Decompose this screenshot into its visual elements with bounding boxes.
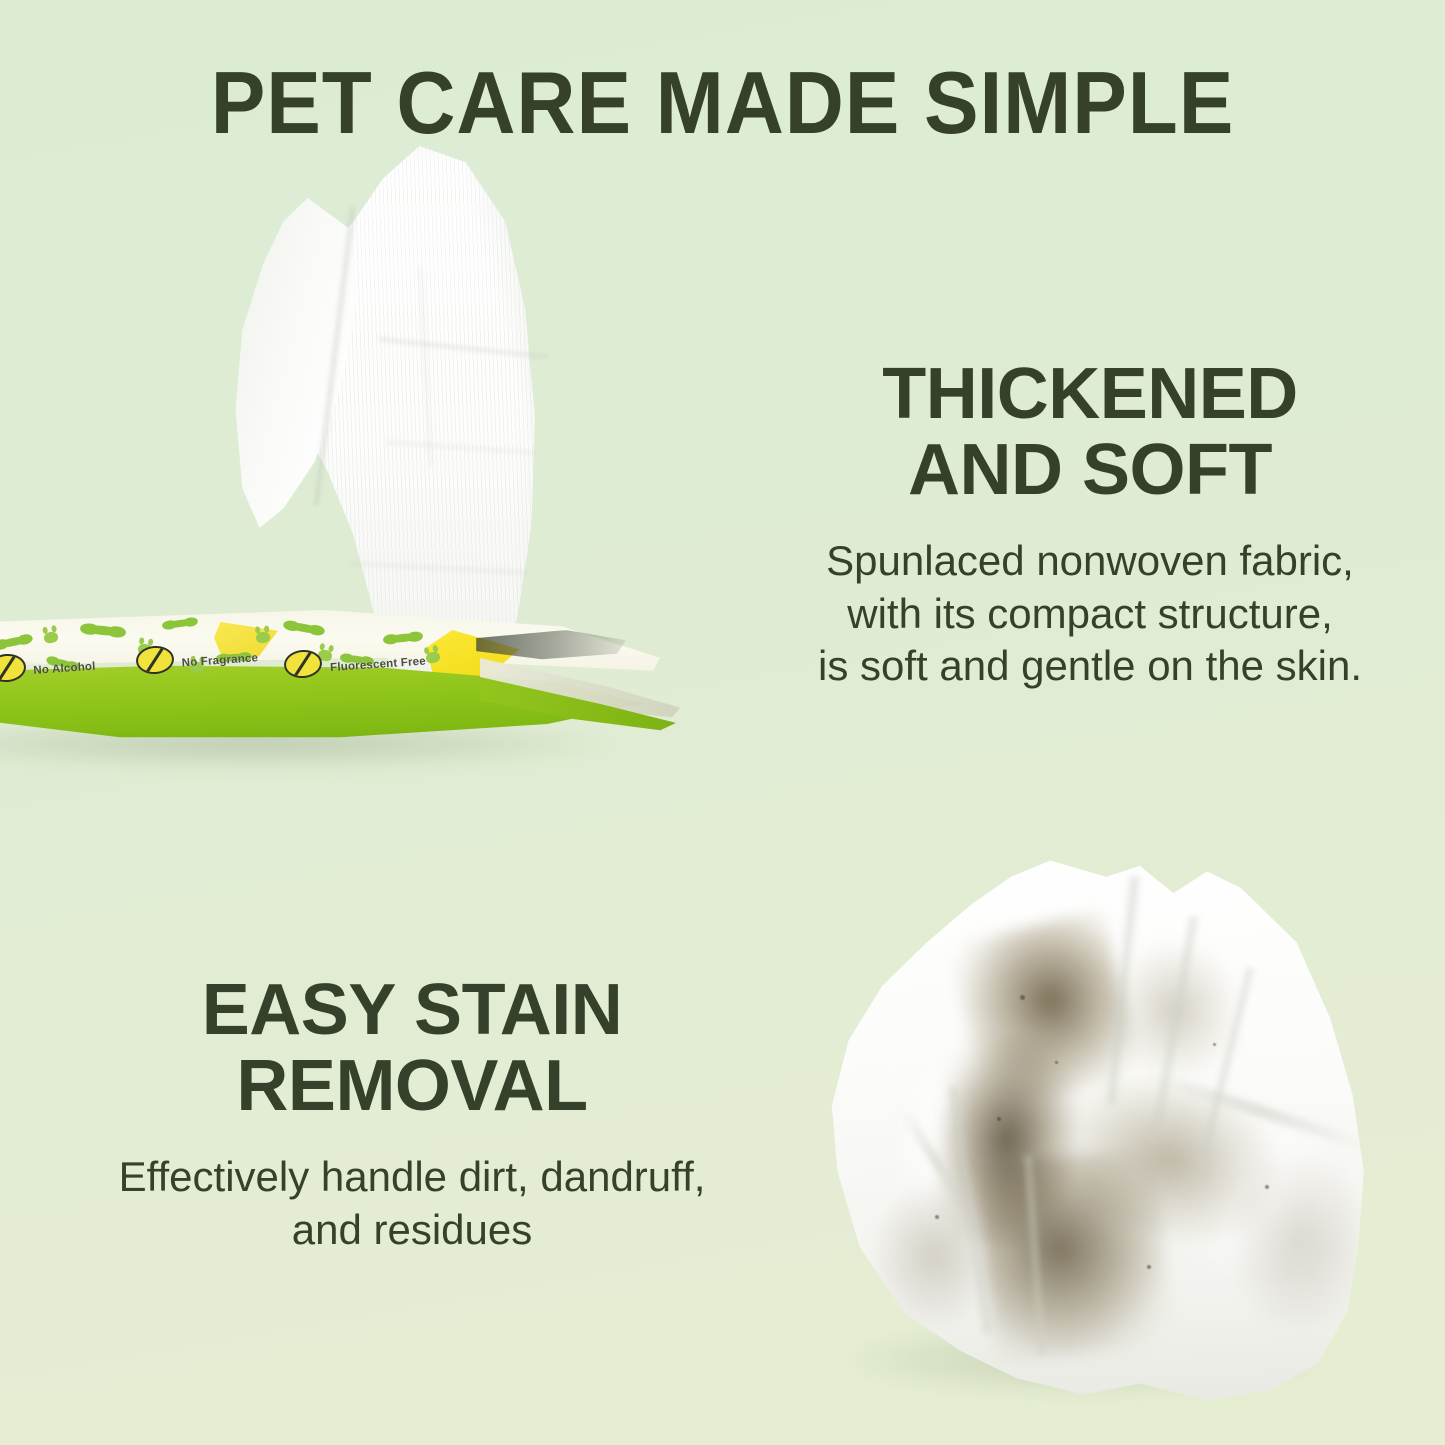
feature-thickened-and-soft: THICKENED AND SOFT Spunlaced nonwoven fa… (760, 356, 1420, 693)
dirt-speck (1020, 995, 1025, 1000)
dirt-speck (1147, 1265, 1151, 1269)
wipe-pulled-out (228, 146, 558, 686)
soiled-wipe-image (815, 855, 1375, 1400)
product-package-image: No Alcohol No Fragrance Fluorescent Free (0, 140, 720, 800)
bone-graphic (390, 633, 417, 644)
dirt-speck (935, 1215, 939, 1219)
feature-easy-stain-removal: EASY STAIN REMOVAL Effectively handle di… (52, 972, 772, 1256)
badge-label: No Fragrance (181, 651, 258, 670)
soiled-wipe-cloth (815, 855, 1375, 1400)
badge-no-alcohol: No Alcohol (0, 654, 97, 682)
no-alcohol-icon (0, 652, 27, 683)
dirt-speck (1213, 1043, 1216, 1046)
bone-graphic (88, 624, 119, 636)
feature-heading: THICKENED AND SOFT (760, 356, 1420, 509)
dirt-speck (1265, 1185, 1269, 1189)
no-fragrance-icon (135, 644, 175, 675)
badge-label: No Alcohol (33, 659, 96, 677)
badge-label: Fluorescent Free (330, 654, 427, 674)
badge-no-fragrance: No Fragrance (136, 646, 260, 674)
feature-description: Spunlaced nonwoven fabric, with its comp… (760, 535, 1420, 694)
dirt-speck (997, 1117, 1001, 1121)
page-title: PET CARE MADE SIMPLE (51, 52, 1395, 154)
feature-description: Effectively handle dirt, dandruff, and r… (52, 1151, 772, 1257)
wipes-pack: No Alcohol No Fragrance Fluorescent Free (0, 610, 660, 755)
product-feature-image: PET CARE MADE SIMPLE (0, 0, 1445, 1445)
badge-fluorescent-free: Fluorescent Free (284, 650, 428, 678)
fluorescent-free-icon (283, 648, 323, 679)
dirt-stain (1235, 1155, 1365, 1325)
dirt-speck (1055, 1061, 1058, 1064)
feature-heading: EASY STAIN REMOVAL (52, 972, 772, 1125)
